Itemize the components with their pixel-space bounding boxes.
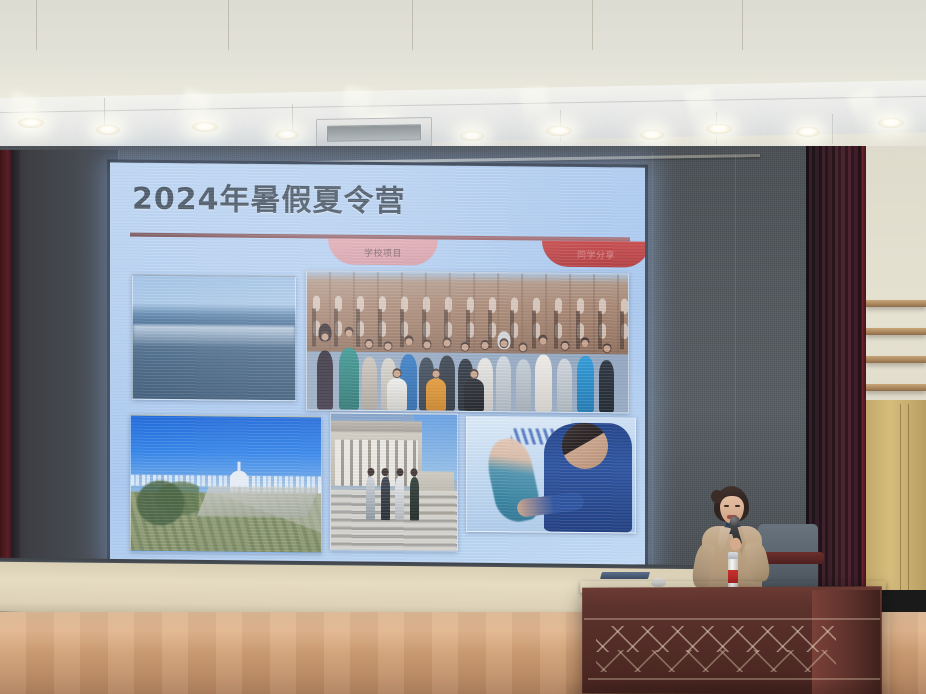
slide-badge-student-sharing: 同学分享 xyxy=(542,241,645,268)
water-bottle-cap xyxy=(728,552,738,559)
podium-zigzag-relief-lower xyxy=(596,650,836,672)
side-door[interactable] xyxy=(866,400,926,590)
photo-city-panorama xyxy=(130,415,322,554)
photo-students-on-steps xyxy=(330,413,458,552)
podium-zigzag-relief-upper xyxy=(596,626,836,652)
person xyxy=(516,360,531,412)
wall-slat xyxy=(866,300,926,307)
person xyxy=(339,348,359,410)
person xyxy=(395,477,404,520)
person xyxy=(496,357,511,412)
left-wall-trim-inner xyxy=(12,150,20,582)
person xyxy=(599,360,614,412)
podium-trim-lower xyxy=(588,678,880,680)
ceiling-downlight xyxy=(192,122,218,132)
door-edge xyxy=(908,404,909,590)
presenter-eye-right xyxy=(735,505,740,507)
person xyxy=(535,354,552,412)
person xyxy=(557,359,572,412)
projection-screen[interactable]: 2024年暑假夏令营 学校项目 同学分享 xyxy=(110,162,645,569)
person xyxy=(426,379,446,411)
parliament-dome xyxy=(230,471,248,487)
stage-curtain xyxy=(806,146,868,586)
person xyxy=(317,351,333,410)
ceiling-seam xyxy=(832,114,833,144)
photo-aquarium-mermaid xyxy=(466,416,636,534)
skirt-seam xyxy=(742,0,743,50)
wall-slat xyxy=(866,356,926,363)
person xyxy=(577,356,594,412)
ceiling-downlight xyxy=(796,127,820,137)
plaza-path xyxy=(197,487,319,518)
ceiling-downlight xyxy=(878,118,904,128)
microphone-head xyxy=(730,516,740,526)
photo-rocky-shore xyxy=(132,275,296,402)
door-edge xyxy=(900,404,901,590)
auditorium-scene: 2024年暑假夏令营 学校项目 同学分享 xyxy=(0,0,926,694)
person xyxy=(381,477,390,520)
person xyxy=(366,477,375,520)
wall-slat xyxy=(866,328,926,335)
person xyxy=(387,379,407,411)
ceiling-downlight xyxy=(460,131,484,141)
presenter-eye-left xyxy=(724,505,729,507)
podium-trim-upper xyxy=(584,618,880,620)
four-students xyxy=(366,460,421,520)
student-group xyxy=(307,338,628,413)
curtain-folds xyxy=(806,146,868,586)
child-head xyxy=(562,422,608,468)
shore-rocks xyxy=(133,335,295,401)
ceiling-downlight xyxy=(640,130,664,140)
skirt-seam xyxy=(592,0,593,50)
person xyxy=(464,379,484,411)
skirt-seam xyxy=(36,0,37,50)
ceiling-downlight xyxy=(706,124,732,134)
shrubs xyxy=(135,467,200,527)
ceiling-downlight xyxy=(275,130,299,140)
photo-group-colonial xyxy=(306,270,629,413)
ceiling-downlight xyxy=(546,126,572,136)
person xyxy=(362,357,377,410)
ceiling-air-conditioner-vent xyxy=(316,117,432,149)
wall-seam xyxy=(652,152,653,570)
slide-title: 2024年暑假夏令营 xyxy=(132,185,406,218)
pediment xyxy=(331,420,422,431)
ceiling-downlight xyxy=(96,125,120,135)
person xyxy=(410,477,419,520)
slide: 2024年暑假夏令营 学校项目 同学分享 xyxy=(110,162,645,569)
skirt-seam xyxy=(412,0,413,50)
laptop[interactable] xyxy=(600,572,650,579)
ceiling-downlight xyxy=(18,118,44,128)
slide-badge-school-project: 学校项目 xyxy=(328,239,438,266)
wall-slat xyxy=(866,384,926,391)
skirt-seam xyxy=(228,0,229,50)
